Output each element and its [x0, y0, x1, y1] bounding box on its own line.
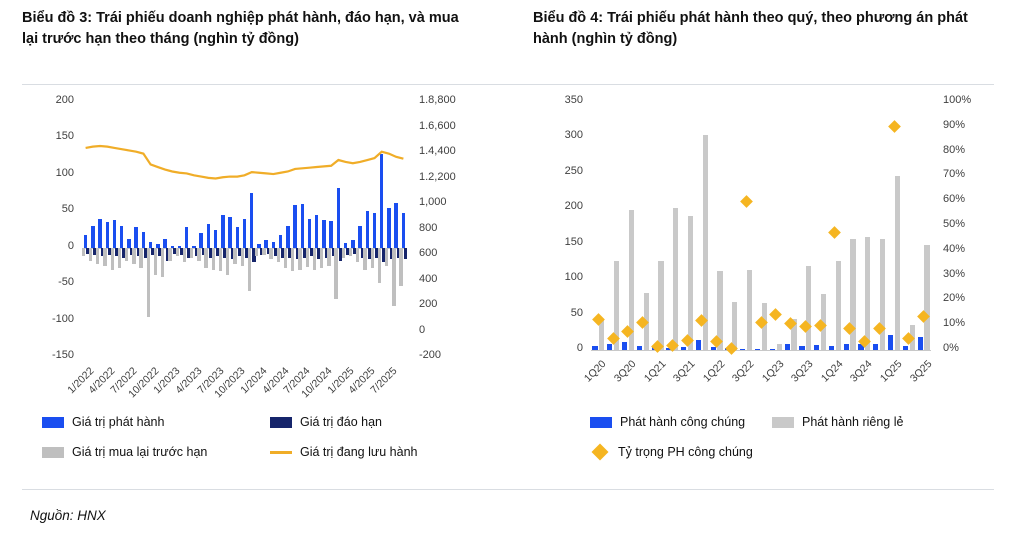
chart4-legend-label: Phát hành riêng lẻ — [802, 415, 903, 429]
chart4-ytick-left: 50 — [533, 307, 583, 319]
chart4-zero-line — [591, 350, 931, 351]
chart4-bar-public — [755, 349, 760, 350]
chart4-bar-public — [681, 347, 686, 350]
chart3-ytick-left: 100 — [22, 167, 74, 179]
chart3-legend-item: Giá trị đang lưu hành — [270, 445, 417, 459]
chart4-bar-public — [903, 346, 908, 350]
chart4-bar-public — [711, 347, 716, 350]
chart3-ytick-right: -200 — [419, 349, 471, 361]
chart3-ytick-right: 0 — [419, 324, 471, 336]
chart4-bar-private — [806, 266, 811, 350]
chart4-ytick-left: 150 — [533, 236, 583, 248]
chart4-legend-item: Phát hành công chúng — [590, 415, 745, 429]
chart4-bar-public — [637, 346, 642, 350]
chart4-bar-public — [740, 349, 745, 350]
chart4-legend: Phát hành công chúngPhát hành riêng lẻTỷ… — [560, 415, 1000, 475]
chart3-ytick-left: 0 — [22, 240, 74, 252]
chart4-ytick-left: 0 — [533, 342, 583, 354]
chart4-ytick-right: 90% — [943, 119, 993, 131]
chart3-ytick-right: 1.6,600 — [419, 120, 471, 132]
source-note: Nguồn: HNX — [30, 508, 106, 523]
chart3-ytick-left: -50 — [22, 276, 74, 288]
chart4-legend-swatch — [590, 417, 612, 428]
chart4-bar-private — [836, 261, 841, 350]
chart4-bar-private — [658, 261, 663, 350]
chart4-bar-private — [895, 176, 900, 350]
chart4-bar-public — [770, 349, 775, 350]
chart4-legend-item: Phát hành riêng lẻ — [772, 415, 903, 429]
chart3-legend-label: Giá trị mua lại trước hạn — [72, 445, 207, 459]
chart3-ytick-right: 1,000 — [419, 196, 471, 208]
chart4-ytick-right: 60% — [943, 193, 993, 205]
chart4-bar-public — [918, 337, 923, 350]
chart3-legend-swatch — [270, 417, 292, 428]
chart3-plot-area — [82, 102, 407, 357]
chart4-bar-private — [673, 208, 678, 350]
chart4-bar-private — [777, 344, 782, 350]
chart4-ytick-right: 80% — [943, 144, 993, 156]
chart4-ratio-marker — [740, 195, 753, 208]
chart4-ytick-left: 350 — [533, 94, 583, 106]
chart4-bar-public — [592, 346, 597, 350]
chart3-ytick-left: -150 — [22, 349, 74, 361]
chart4-legend-label: Tỷ trọng PH công chúng — [618, 445, 753, 459]
chart3-legend-label: Giá trị phát hành — [72, 415, 164, 429]
chart4-ratio-marker — [888, 120, 901, 133]
chart3-legend-item: Giá trị mua lại trước hạn — [42, 445, 207, 459]
chart4-bar-public — [829, 346, 834, 350]
chart4-bar-public — [785, 344, 790, 350]
chart4-ytick-right: 70% — [943, 168, 993, 180]
chart4-bar-public — [607, 344, 612, 350]
chart3-legend-label: Giá trị đang lưu hành — [300, 445, 417, 459]
chart4-container: 050100150200250300350 0%10%20%30%40%50%6… — [533, 92, 1003, 402]
chart4-bar-public — [799, 346, 804, 350]
chart4-bar-private — [924, 245, 929, 350]
chart3-container: -150-100-50050100150200 -200020040060080… — [22, 92, 492, 402]
chart4-bar-public — [814, 345, 819, 350]
chart4-bar-public — [888, 335, 893, 350]
chart3-legend: Giá trị phát hànhGiá trị đáo hạnGiá trị … — [42, 415, 482, 475]
report-figure-page: Biểu đồ 3: Trái phiếu doanh nghiệp phát … — [0, 0, 1020, 536]
chart3-ytick-right: 1.8,800 — [419, 94, 471, 106]
chart3-outstanding-line — [82, 102, 407, 357]
chart3-legend-swatch — [270, 451, 292, 454]
chart3-ytick-left: 200 — [22, 94, 74, 106]
chart4-legend-swatch — [772, 417, 794, 428]
chart4-bar-private — [850, 239, 855, 350]
divider-top — [22, 84, 994, 85]
chart4-ytick-left: 250 — [533, 165, 583, 177]
chart3-title: Biểu đồ 3: Trái phiếu doanh nghiệp phát … — [22, 8, 472, 49]
chart4-ytick-right: 100% — [943, 94, 993, 106]
chart3-ytick-left: 50 — [22, 203, 74, 215]
chart4-legend-swatch — [592, 444, 609, 461]
chart3-legend-item: Giá trị đáo hạn — [270, 415, 382, 429]
chart3-ytick-right: 600 — [419, 247, 471, 259]
chart4-ratio-marker — [829, 226, 842, 239]
chart3-legend-item: Giá trị phát hành — [42, 415, 164, 429]
chart4-ytick-right: 30% — [943, 268, 993, 280]
chart4-title: Biểu đồ 4: Trái phiếu phát hành theo quý… — [533, 8, 993, 49]
chart4-bar-public — [873, 344, 878, 350]
chart3-ytick-left: -100 — [22, 313, 74, 325]
chart4-bar-private — [865, 237, 870, 350]
chart3-ytick-left: 150 — [22, 130, 74, 142]
chart3-ytick-right: 1.2,200 — [419, 171, 471, 183]
chart4-ytick-right: 10% — [943, 317, 993, 329]
chart4-bar-private — [688, 216, 693, 350]
chart4-ytick-right: 40% — [943, 243, 993, 255]
chart4-legend-item: Tỷ trọng PH công chúng — [590, 445, 753, 459]
chart4-ratio-marker — [769, 308, 782, 321]
chart4-bar-private — [747, 270, 752, 350]
chart4-ytick-right: 0% — [943, 342, 993, 354]
chart4-plot-area — [591, 102, 931, 350]
chart3-ytick-right: 1.4,400 — [419, 145, 471, 157]
chart4-bar-public — [696, 340, 701, 350]
chart3-ytick-right: 800 — [419, 222, 471, 234]
chart4-bar-public — [844, 344, 849, 350]
chart3-legend-swatch — [42, 447, 64, 458]
chart3-ytick-right: 200 — [419, 298, 471, 310]
chart4-legend-label: Phát hành công chúng — [620, 415, 745, 429]
chart3-legend-label: Giá trị đáo hạn — [300, 415, 382, 429]
divider-bottom — [22, 489, 994, 490]
chart4-ytick-right: 20% — [943, 292, 993, 304]
chart4-ytick-left: 100 — [533, 271, 583, 283]
chart3-legend-swatch — [42, 417, 64, 428]
chart4-ytick-left: 300 — [533, 129, 583, 141]
chart4-ytick-right: 50% — [943, 218, 993, 230]
chart3-ytick-right: 400 — [419, 273, 471, 285]
chart4-bar-public — [622, 342, 627, 350]
chart4-ytick-left: 200 — [533, 200, 583, 212]
